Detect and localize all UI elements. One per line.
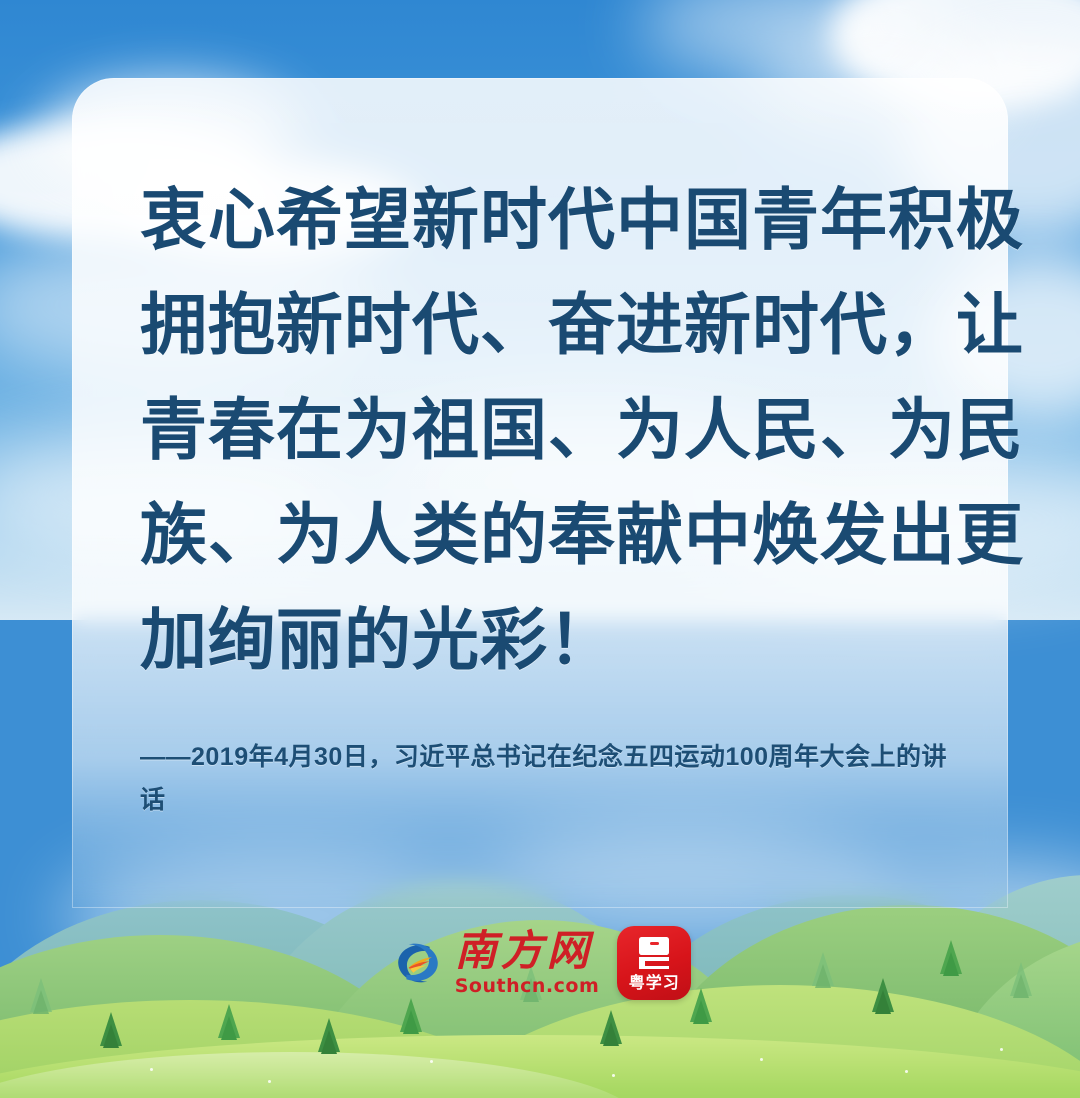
yuexuexi-label: 粤学习 xyxy=(617,976,691,992)
yuexuexi-app-icon[interactable]: 粤学习 xyxy=(617,926,691,1000)
quote-attribution: ——2019年4月30日，习近平总书记在纪念五四运动100周年大会上的讲话 xyxy=(140,736,952,822)
quote-line: 青春在为祖国、为人民、为民 xyxy=(140,378,950,483)
quote-line: 族、为人类的奉献中焕发出更 xyxy=(140,483,950,588)
poster-canvas: 衷心希望新时代中国青年积极 拥抱新时代、奋进新时代，让 青春在为祖国、为人民、为… xyxy=(0,0,1080,1098)
grass-speck xyxy=(1000,1048,1003,1051)
grass-speck xyxy=(430,1060,433,1063)
grass-speck xyxy=(612,1074,615,1077)
grass-speck xyxy=(268,1080,271,1083)
tree-icon xyxy=(400,998,422,1032)
southcn-logo[interactable]: 南方网 Southcn.com xyxy=(389,931,600,996)
tree-icon xyxy=(600,1010,622,1044)
tree-icon xyxy=(318,1018,340,1052)
southcn-name-en: Southcn.com xyxy=(455,977,600,996)
quote-line: 衷心希望新时代中国青年积极 xyxy=(140,168,950,273)
grass-speck xyxy=(150,1068,153,1071)
southcn-swirl-icon xyxy=(389,934,447,992)
footer-logo-row: 南方网 Southcn.com 粤学习 xyxy=(0,926,1080,1000)
yuexuexi-book-icon xyxy=(617,935,691,969)
southcn-wordmark: 南方网 Southcn.com xyxy=(455,931,600,996)
grass-speck xyxy=(905,1070,908,1073)
quote-text: 衷心希望新时代中国青年积极 拥抱新时代、奋进新时代，让 青春在为祖国、为人民、为… xyxy=(140,168,950,693)
southcn-name-cn: 南方网 xyxy=(455,931,593,973)
quote-line: 拥抱新时代、奋进新时代，让 xyxy=(140,273,950,378)
tree-icon xyxy=(100,1012,122,1046)
tree-icon xyxy=(218,1004,240,1038)
quote-line: 加绚丽的光彩！ xyxy=(140,588,950,693)
grass-speck xyxy=(760,1058,763,1061)
